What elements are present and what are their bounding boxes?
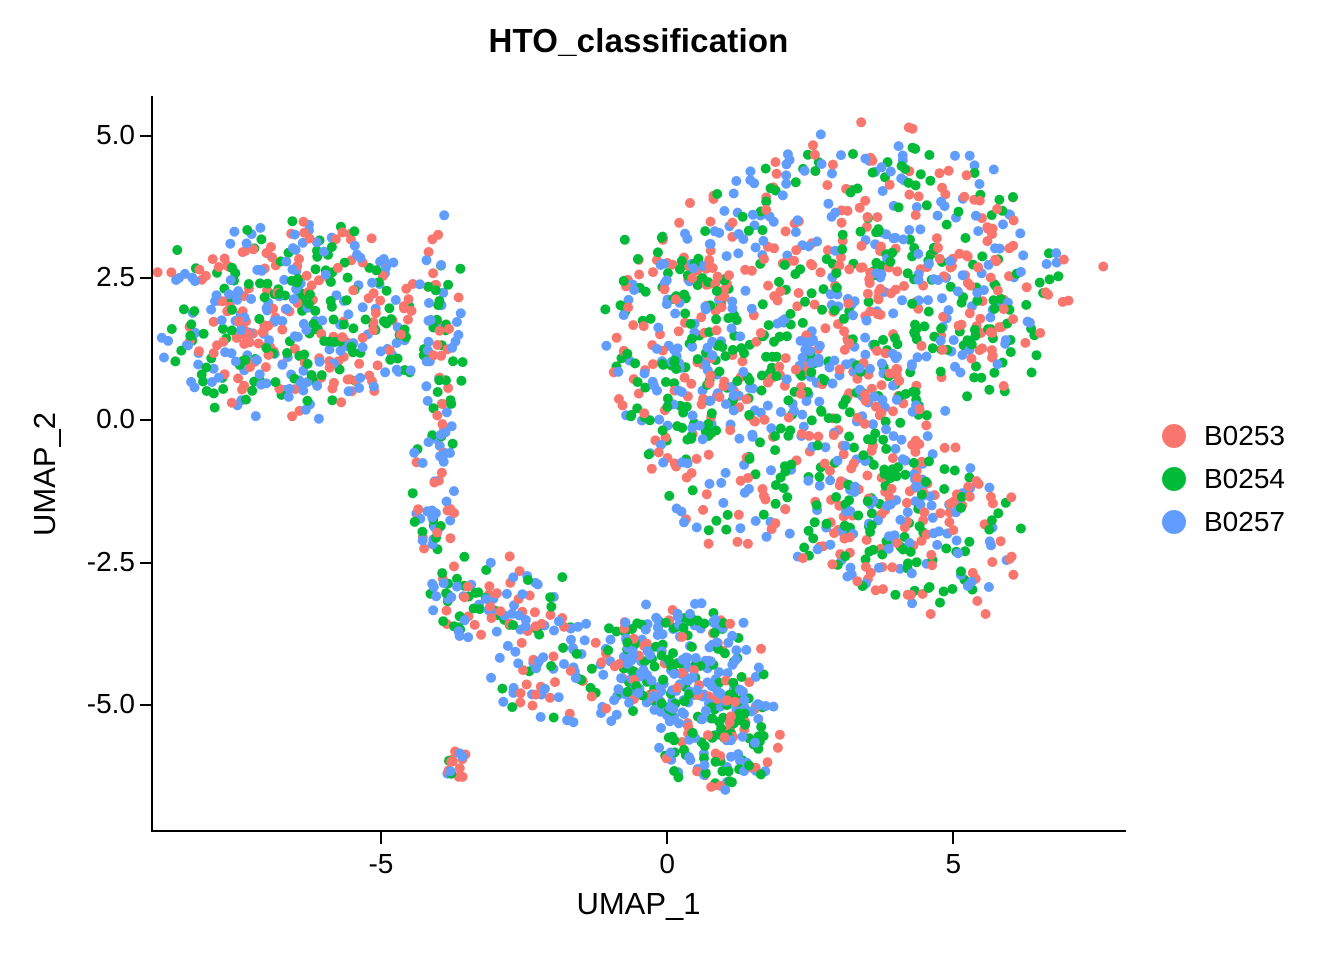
scatter-point [190,382,200,392]
scatter-point [806,367,816,377]
scatter-point [658,425,668,435]
scatter-point [456,308,466,318]
scatter-point [260,292,270,302]
scatter-point [449,561,459,571]
scatter-point [984,483,994,493]
scatter-point [652,344,662,354]
scatter-point [484,581,494,591]
scatter-point [326,296,336,306]
scatter-point [403,315,413,325]
scatter-point [339,320,349,330]
scatter-point [993,286,1003,296]
scatter-point [872,346,882,356]
scatter-point [262,248,272,258]
scatter-point [985,536,995,546]
scatter-point [620,235,630,245]
scatter-point [879,465,889,475]
scatter-point [837,244,847,254]
scatter-point [421,381,431,391]
scatter-point [263,321,273,331]
scatter-point [762,532,772,542]
scatter-point [671,364,681,374]
scatter-point [776,407,786,417]
scatter-point [769,217,779,227]
scatter-point [179,304,189,314]
scatter-point [688,485,698,495]
scatter-point [935,168,945,178]
scatter-point [705,396,715,406]
scatter-point [418,536,428,546]
scatter-point [825,466,835,476]
scatter-point [957,350,967,360]
scatter-point [908,387,918,397]
scatter-point [810,150,820,160]
scatter-point [417,527,427,537]
scatter-point [277,360,287,370]
scatter-point [641,287,651,297]
scatter-point [558,643,568,653]
scatter-point [719,381,729,391]
scatter-point [647,676,657,686]
scatter-point [406,365,416,375]
scatter-point [209,348,219,358]
scatter-point [448,756,458,766]
scatter-point [321,270,331,280]
scatter-point [720,785,730,795]
scatter-point [845,407,855,417]
x-tick-mark [380,832,382,844]
scatter-point [459,552,469,562]
scatter-point [373,360,383,370]
scatter-point [730,697,740,707]
scatter-point [897,295,907,305]
scatter-point [756,328,766,338]
scatter-point [277,325,287,335]
scatter-point [763,401,773,411]
y-tick-label: -5.0 [87,690,135,718]
scatter-point [839,314,849,324]
scatter-point [301,325,311,335]
scatter-point [680,309,690,319]
scatter-point [546,661,556,671]
scatter-point [659,259,669,269]
scatter-point [913,249,923,259]
scatter-point [244,279,254,289]
scatter-point [687,334,697,344]
scatter-point [843,299,853,309]
scatter-point [855,364,865,374]
scatter-point [935,508,945,518]
scatter-point [791,177,801,187]
y-tick-mark [140,704,152,706]
scatter-point [903,507,913,517]
scatter-point [658,458,668,468]
plot-panel [152,96,1125,830]
scatter-point [941,544,951,554]
legend-item[interactable]: B0257 [1162,500,1337,543]
scatter-point [871,585,881,595]
scatter-point [311,264,321,274]
scatter-point [703,419,713,429]
scatter-point [336,397,346,407]
scatter-point [498,697,508,707]
scatter-point [899,281,909,291]
scatter-point [769,337,779,347]
scatter-point [932,233,942,243]
scatter-point [873,309,883,319]
scatter-point [408,488,418,498]
scatter-point [314,414,324,424]
scatter-point [566,635,576,645]
scatter-point [831,268,841,278]
scatter-point [310,306,320,316]
scatter-point [999,381,1009,391]
scatter-point [653,323,663,333]
scatter-point [741,394,751,404]
scatter-point [766,183,776,193]
scatter-point [700,760,710,770]
scatter-point [562,715,572,725]
scatter-point [688,411,698,421]
scatter-point [835,364,845,374]
scatter-point [226,275,236,285]
scatter-point [580,635,590,645]
scatter-point [350,241,360,251]
scatter-point [763,757,773,767]
scatter-point [674,386,684,396]
scatter-point [343,273,353,283]
scatter-point [944,166,954,176]
scatter-point [1008,570,1018,580]
scatter-point [858,262,868,272]
scatter-point [868,168,878,178]
legend-item[interactable]: B0253 [1162,414,1337,457]
scatter-point [516,688,526,698]
scatter-point [902,498,912,508]
scatter-point [870,429,880,439]
legend-color-dot-icon [1162,424,1186,448]
scatter-point [337,332,347,342]
scatter-point [662,299,672,309]
scatter-point [432,410,442,420]
scatter-point [572,649,582,659]
scatter-point [891,444,901,454]
scatter-point [241,395,251,405]
scatter-point [776,473,786,483]
scatter-point [735,523,745,533]
scatter-point [434,375,444,385]
scatter-point [657,651,667,661]
scatter-point [832,283,842,293]
scatter-point [252,355,262,365]
scatter-point [836,150,846,160]
scatter-point [850,482,860,492]
scatter-point [689,263,699,273]
scatter-point [780,260,790,270]
scatter-point [597,657,607,667]
scatter-point [613,367,623,377]
scatter-point [773,743,783,753]
scatter-point [738,234,748,244]
scatter-point [940,443,950,453]
scatter-point [781,353,791,363]
scatter-point [354,383,364,393]
scatter-point [717,766,727,776]
scatter-point [534,656,544,666]
scatter-point [775,286,785,296]
scatter-point [172,245,182,255]
scatter-point [796,389,806,399]
scatter-point [327,242,337,252]
scatter-point [877,380,887,390]
scatter-point [495,606,505,616]
scatter-point [739,618,749,628]
scatter-point [454,626,464,636]
scatter-point [800,297,810,307]
scatter-point [915,224,925,234]
scatter-point [894,376,904,386]
scatter-point [550,677,560,687]
scatter-point [626,655,636,665]
scatter-point [658,359,668,369]
scatter-point [691,653,701,663]
scatter-point [255,223,265,233]
scatter-point [817,305,827,315]
scatter-point [800,166,810,176]
scatter-point [348,285,358,295]
scatter-point [612,333,622,343]
scatter-point [455,264,465,274]
scatter-point [744,761,754,771]
scatter-point [622,638,632,648]
scatter-point [413,504,423,514]
scatter-point [312,381,322,391]
scatter-point [816,129,826,139]
scatter-point [903,268,913,278]
scatter-point [884,531,894,541]
scatter-point [728,345,738,355]
scatter-point [731,176,741,186]
scatter-point [202,386,212,396]
scatter-point [292,278,302,288]
scatter-point [961,233,971,243]
scatter-point [170,356,180,366]
scatter-point [392,365,402,375]
scatter-point [721,468,731,478]
scatter-point [375,296,385,306]
scatter-point [621,618,631,628]
scatter-point [886,500,896,510]
scatter-point [704,525,714,535]
scatter-point [937,293,947,303]
scatter-point [307,280,317,290]
scatter-point [707,408,717,418]
scatter-point [729,406,739,416]
scatter-point [741,286,751,296]
scatter-point [225,239,235,249]
scatter-point [530,607,540,617]
scatter-point [955,249,965,259]
scatter-point [772,169,782,179]
scatter-point [463,632,473,642]
scatter-point [257,266,267,276]
scatter-point [740,709,750,719]
scatter-point [677,707,687,717]
scatter-point [229,227,239,237]
scatter-point [533,579,543,589]
legend-color-dot-icon [1162,510,1186,534]
scatter-point [935,598,945,608]
scatter-point [904,225,914,235]
scatter-point [912,482,922,492]
scatter-point [933,275,943,285]
scatter-point [697,598,707,608]
scatter-point [897,161,907,171]
scatter-point [190,276,200,286]
scatter-point [698,434,708,444]
scatter-point [262,303,272,313]
scatter-point [990,243,1000,253]
scatter-point [649,691,659,701]
scatter-point [828,160,838,170]
scatter-point [644,449,654,459]
scatter-point [1006,492,1016,502]
scatter-point [857,241,867,251]
scatter-point [507,702,517,712]
scatter-point [227,305,237,315]
scatter-point [486,558,496,568]
scatter-point [505,551,515,561]
scatter-point [745,375,755,385]
scatter-point [1035,278,1045,288]
scatter-point [904,190,914,200]
scatter-point [428,605,438,615]
scatter-point [601,704,611,714]
scatter-point [349,226,359,236]
scatter-point [923,295,933,305]
scatter-point [734,434,744,444]
scatter-point [861,562,871,572]
scatter-point [619,276,629,286]
scatter-point [436,351,446,361]
scatter-point [401,284,411,294]
scatter-point [712,286,722,296]
scatter-point [692,685,702,695]
scatter-point [433,230,443,240]
scatter-point [355,253,365,263]
scatter-point [452,582,462,592]
scatter-point [890,333,900,343]
scatter-point [422,255,432,265]
scatter-point [587,664,597,674]
scatter-point [1008,192,1018,202]
scatter-point [606,635,616,645]
scatter-point [770,431,780,441]
scatter-point [549,651,559,661]
scatter-point [704,450,714,460]
page-title: HTO_classification [152,22,1125,60]
scatter-point [740,488,750,498]
scatter-point [751,516,761,526]
scatter-point [433,300,443,310]
scatter-point [185,331,195,341]
scatter-point [705,261,715,271]
scatter-point [437,568,447,578]
scatter-point [439,578,449,588]
scatter-point [895,515,905,525]
scatter-point [446,592,456,602]
scatter-point [875,284,885,294]
x-axis-line [151,830,1126,832]
scatter-point [832,414,842,424]
scatter-point [914,191,924,201]
scatter-point [429,582,439,592]
scatter-point [956,566,966,576]
scatter-point [1005,554,1015,564]
scatter-point [968,568,978,578]
scatter-point [449,486,459,496]
scatter-point [781,226,791,236]
scatter-point [486,673,496,683]
scatter-point [391,295,401,305]
scatter-point [444,324,454,334]
scatter-point [679,290,689,300]
scatter-point [673,609,683,619]
scatter-point [227,398,237,408]
scatter-point [240,355,250,365]
scatter-point [661,377,671,387]
scatter-point [384,303,394,313]
scatter-point [992,204,1002,214]
scatter-point [718,498,728,508]
scatter-point [727,777,737,787]
legend-item[interactable]: B0254 [1162,457,1337,500]
scatter-point [448,439,458,449]
scatter-point [336,346,346,356]
scatter-point [654,415,664,425]
scatter-point [812,237,822,247]
scatter-point [814,397,824,407]
scatter-point [803,476,813,486]
scatter-point [817,159,827,169]
scatter-point [732,376,742,386]
scatter-point [944,305,954,315]
scatter-point [639,408,649,418]
scatter-point [908,124,918,134]
scatter-point [972,596,982,606]
scatter-point [618,400,628,410]
scatter-point [396,330,406,340]
scatter-point [913,352,923,362]
scatter-point [892,395,902,405]
scatter-point [424,437,434,447]
scatter-point [329,315,339,325]
scatter-point [573,622,583,632]
scatter-point [965,308,975,318]
scatter-point [234,316,244,326]
scatter-point [914,275,924,285]
scatter-point [741,645,751,655]
scatter-point [731,645,741,655]
scatter-point [473,587,483,597]
scatter-point [984,582,994,592]
scatter-point [780,504,790,514]
scatter-point [327,395,337,405]
scatter-point [470,620,480,630]
scatter-point [790,269,800,279]
scatter-point [409,448,419,458]
scatter-point [770,445,780,455]
